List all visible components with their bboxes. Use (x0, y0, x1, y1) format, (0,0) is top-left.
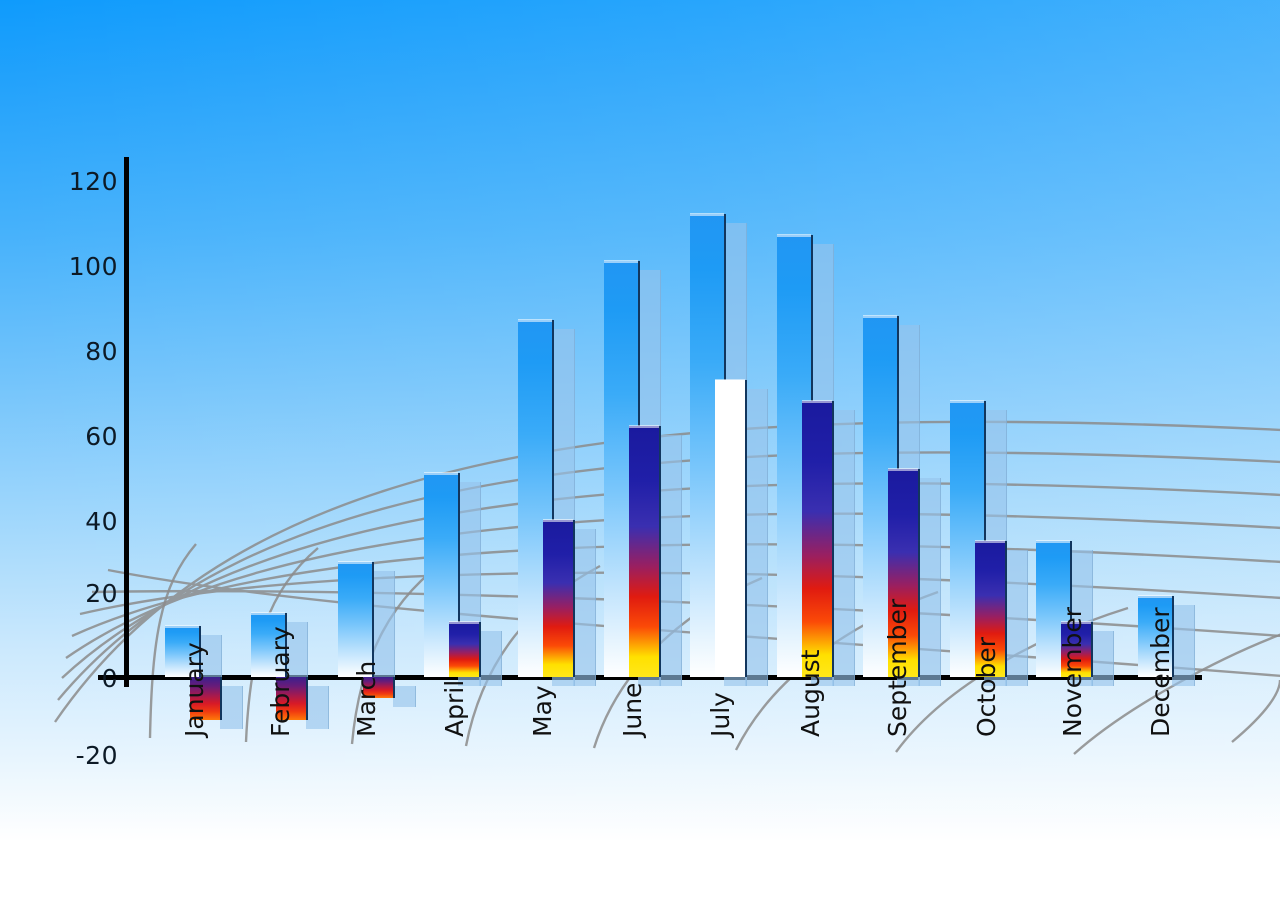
x-tick-label-august: August (796, 650, 825, 738)
bar-side (659, 435, 682, 686)
y-tick-mark-0 (112, 675, 128, 679)
bar-side (573, 529, 596, 686)
bar-side (1005, 550, 1028, 686)
x-tick-label-february: February (266, 626, 295, 737)
plot-area: 120 100 80 60 40 20 0 -20 (0, 0, 1280, 905)
bar-top (715, 379, 745, 382)
x-tick-label-may: May (528, 685, 557, 737)
bar-side (479, 631, 502, 686)
chart-canvas: 120 100 80 60 40 20 0 -20 (0, 0, 1280, 905)
bar-top (518, 319, 552, 322)
bar-series2-april[interactable] (449, 622, 481, 677)
y-tick-label-60: 60 (48, 422, 118, 451)
bar-series2-june[interactable] (629, 426, 661, 677)
bar-top (604, 260, 638, 263)
bar-face (338, 562, 374, 677)
y-tick-label-20: 20 (48, 579, 118, 608)
bar-series2-july[interactable] (715, 380, 747, 678)
bar-side (832, 410, 855, 686)
bar-top (888, 468, 918, 471)
bar-top (543, 519, 573, 522)
bar-series2-august[interactable] (802, 401, 834, 677)
x-tick-label-january: January (180, 642, 209, 737)
bar-top (950, 400, 984, 403)
y-tick-label-100: 100 (48, 252, 118, 281)
bar-top (1036, 540, 1070, 543)
bar-side (745, 389, 768, 687)
x-tick-label-june: June (618, 683, 647, 737)
bar-side (918, 478, 941, 686)
y-tick-label--20: -20 (48, 741, 118, 770)
bar-face (802, 401, 834, 677)
bar-face (543, 520, 575, 677)
bar-top (802, 400, 832, 403)
x-tick-label-april: April (440, 680, 469, 737)
x-tick-label-march: March (352, 661, 381, 737)
bar-top (1138, 595, 1172, 598)
bar-top (863, 315, 897, 318)
bar-face (715, 380, 747, 678)
bar-series1-march[interactable] (338, 562, 374, 677)
bar-side (1091, 631, 1114, 686)
bar-top (629, 425, 659, 428)
bar-face (449, 622, 481, 677)
y-tick-label-80: 80 (48, 337, 118, 366)
y-tick-label-40: 40 (48, 507, 118, 536)
x-tick-label-july: July (706, 692, 735, 737)
bar-top (424, 472, 458, 475)
bar-top (338, 561, 372, 564)
y-tick-label-0: 0 (48, 664, 118, 693)
bar-top (251, 612, 285, 615)
x-tick-label-november: November (1058, 607, 1087, 737)
bar-side (220, 686, 243, 729)
bar-top (777, 234, 811, 237)
bar-top (449, 621, 479, 624)
bar-top (690, 213, 724, 216)
bar-top (975, 540, 1005, 543)
bar-side (1172, 605, 1195, 686)
x-tick-label-december: December (1146, 607, 1175, 737)
y-tick-label-120: 120 (48, 167, 118, 196)
x-tick-label-september: September (883, 599, 912, 737)
y-axis-line (124, 157, 129, 687)
bar-side (306, 686, 329, 729)
bar-face (629, 426, 661, 677)
bar-top (165, 625, 199, 628)
x-tick-label-october: October (972, 637, 1001, 737)
bar-series2-may[interactable] (543, 520, 575, 677)
bar-side (393, 686, 416, 707)
